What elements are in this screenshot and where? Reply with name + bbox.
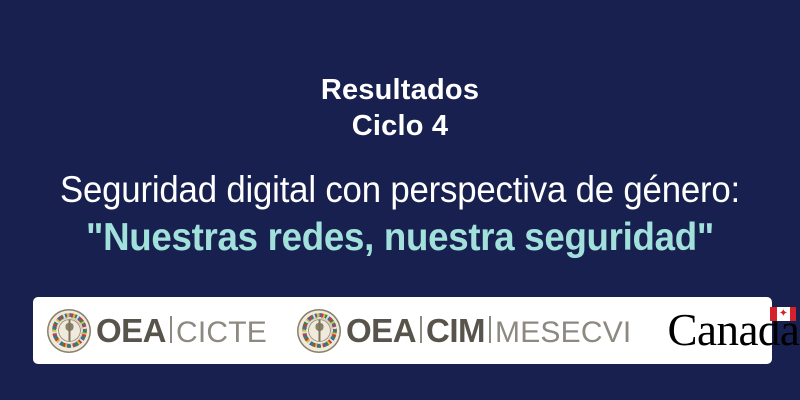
cicte-label: CICTE [176, 318, 267, 348]
flag-bar-left [770, 307, 777, 321]
oea-cicte-wordmark: OEA CICTE [96, 314, 267, 348]
wordmark-divider [170, 316, 172, 343]
cim-label: CIM [426, 314, 485, 347]
mesecvi-label: MESECVI [495, 318, 631, 348]
wordmark-divider [420, 316, 422, 343]
canada-flag-icon: ✦ [770, 307, 796, 321]
wordmark-divider [489, 316, 491, 343]
title-line-1: Resultados [0, 72, 800, 108]
subtitle-quote: "Nuestras redes, nuestra seguridad" [24, 214, 776, 262]
logo-oea-cicte: OEA CICTE [47, 297, 267, 364]
subtitle-block: Seguridad digital con perspectiva de gén… [0, 167, 800, 262]
oas-seal-icon [297, 309, 341, 353]
flag-bar-right [790, 307, 797, 321]
oea-cim-mesecvi-wordmark: OEA CIM MESECVI [346, 314, 631, 348]
title-line-2: Ciclo 4 [0, 108, 800, 144]
oas-seal-icon [47, 309, 91, 353]
page-title: Resultados Ciclo 4 [0, 72, 800, 144]
maple-leaf-icon: ✦ [779, 309, 788, 320]
logo-bar: OEA CICTE OEA CIM MESECVI Canada [33, 297, 772, 364]
oea-label: OEA [346, 314, 416, 347]
slide-canvas: Resultados Ciclo 4 Seguridad digital con… [0, 0, 800, 400]
oea-label: OEA [96, 314, 166, 347]
subtitle-main: Seguridad digital con perspectiva de gén… [24, 167, 776, 213]
canada-wordmark: Canada ✦ [667, 308, 800, 353]
logo-oea-cim-mesecvi: OEA CIM MESECVI [297, 297, 631, 364]
logo-canada: Canada ✦ [667, 297, 800, 364]
